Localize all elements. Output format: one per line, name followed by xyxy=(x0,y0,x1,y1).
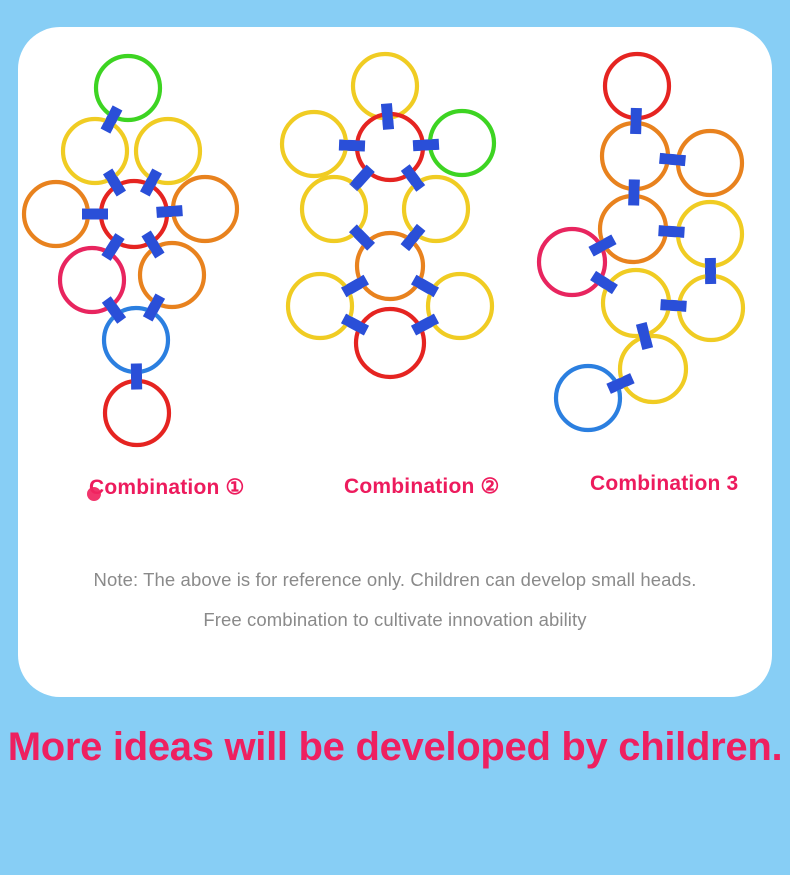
ring-red-bottom xyxy=(105,381,169,445)
ring-yellow-upper-left xyxy=(63,119,127,183)
combination-2-label: Combination ② xyxy=(344,474,500,499)
combination-diagrams xyxy=(0,0,790,460)
connector-peg-top xyxy=(662,305,686,307)
connector-peg-top xyxy=(592,240,613,251)
connector-peg-top xyxy=(406,168,420,187)
combination-3-label: Combination 3 xyxy=(590,472,738,496)
connector-peg-top xyxy=(340,145,364,146)
bottom-headline: More ideas will be developed by children… xyxy=(0,725,790,770)
ring-green-right xyxy=(430,111,494,175)
connector-peg-top xyxy=(661,158,685,160)
connector-peg-top xyxy=(636,109,637,133)
ring-yellow-bottom xyxy=(620,336,686,402)
connector-peg-top xyxy=(642,324,648,347)
connector-peg-top xyxy=(594,276,614,289)
combination-1-label: Combination ① xyxy=(89,475,245,500)
ring-blue-bottom-left xyxy=(556,366,620,430)
ring-green-top xyxy=(96,56,160,120)
ring-yellow-right-low xyxy=(679,276,743,340)
note-line-1: Note: The above is for reference only. C… xyxy=(0,569,790,591)
connector-peg-top xyxy=(354,229,371,246)
connector-peg-top xyxy=(660,231,684,233)
ring-yellow-upper-right xyxy=(136,119,200,183)
ring-yellow-low-right xyxy=(428,274,492,338)
connector-peg-top xyxy=(415,280,436,292)
ring-orange-left xyxy=(24,182,88,246)
ring-orange-right xyxy=(678,131,742,195)
ring-yellow-right-up xyxy=(678,202,742,266)
ring-red-bottom xyxy=(356,309,424,377)
ring-orange-right xyxy=(173,177,237,241)
ring-orange-lower-right xyxy=(140,243,204,307)
ring-chain-svg xyxy=(0,0,790,460)
note-line-2: Free combination to cultivate innovation… xyxy=(0,609,790,631)
ring-yellow-low-left xyxy=(288,274,352,338)
combination-1 xyxy=(24,56,237,445)
connector-peg-top xyxy=(107,300,121,319)
ring-magenta-left xyxy=(539,229,605,295)
connector-peg-top xyxy=(387,105,389,129)
screenshot-root: Combination ① Combination ② Combination … xyxy=(0,0,790,875)
ring-yellow-center xyxy=(603,270,669,336)
pink-cursor-dot-icon xyxy=(87,487,101,501)
combination-2 xyxy=(282,54,494,377)
ring-yellow-left xyxy=(282,112,346,176)
connector-peg-top xyxy=(405,228,420,247)
connector-peg-top xyxy=(634,181,635,205)
connector-peg-top xyxy=(158,211,182,213)
combination-3 xyxy=(539,54,743,430)
connector-peg-top xyxy=(345,280,366,292)
connector-peg-top xyxy=(107,237,120,257)
ring-orange-mid xyxy=(600,196,666,262)
connector-peg-top xyxy=(414,144,438,145)
connector-peg-top xyxy=(354,169,370,187)
